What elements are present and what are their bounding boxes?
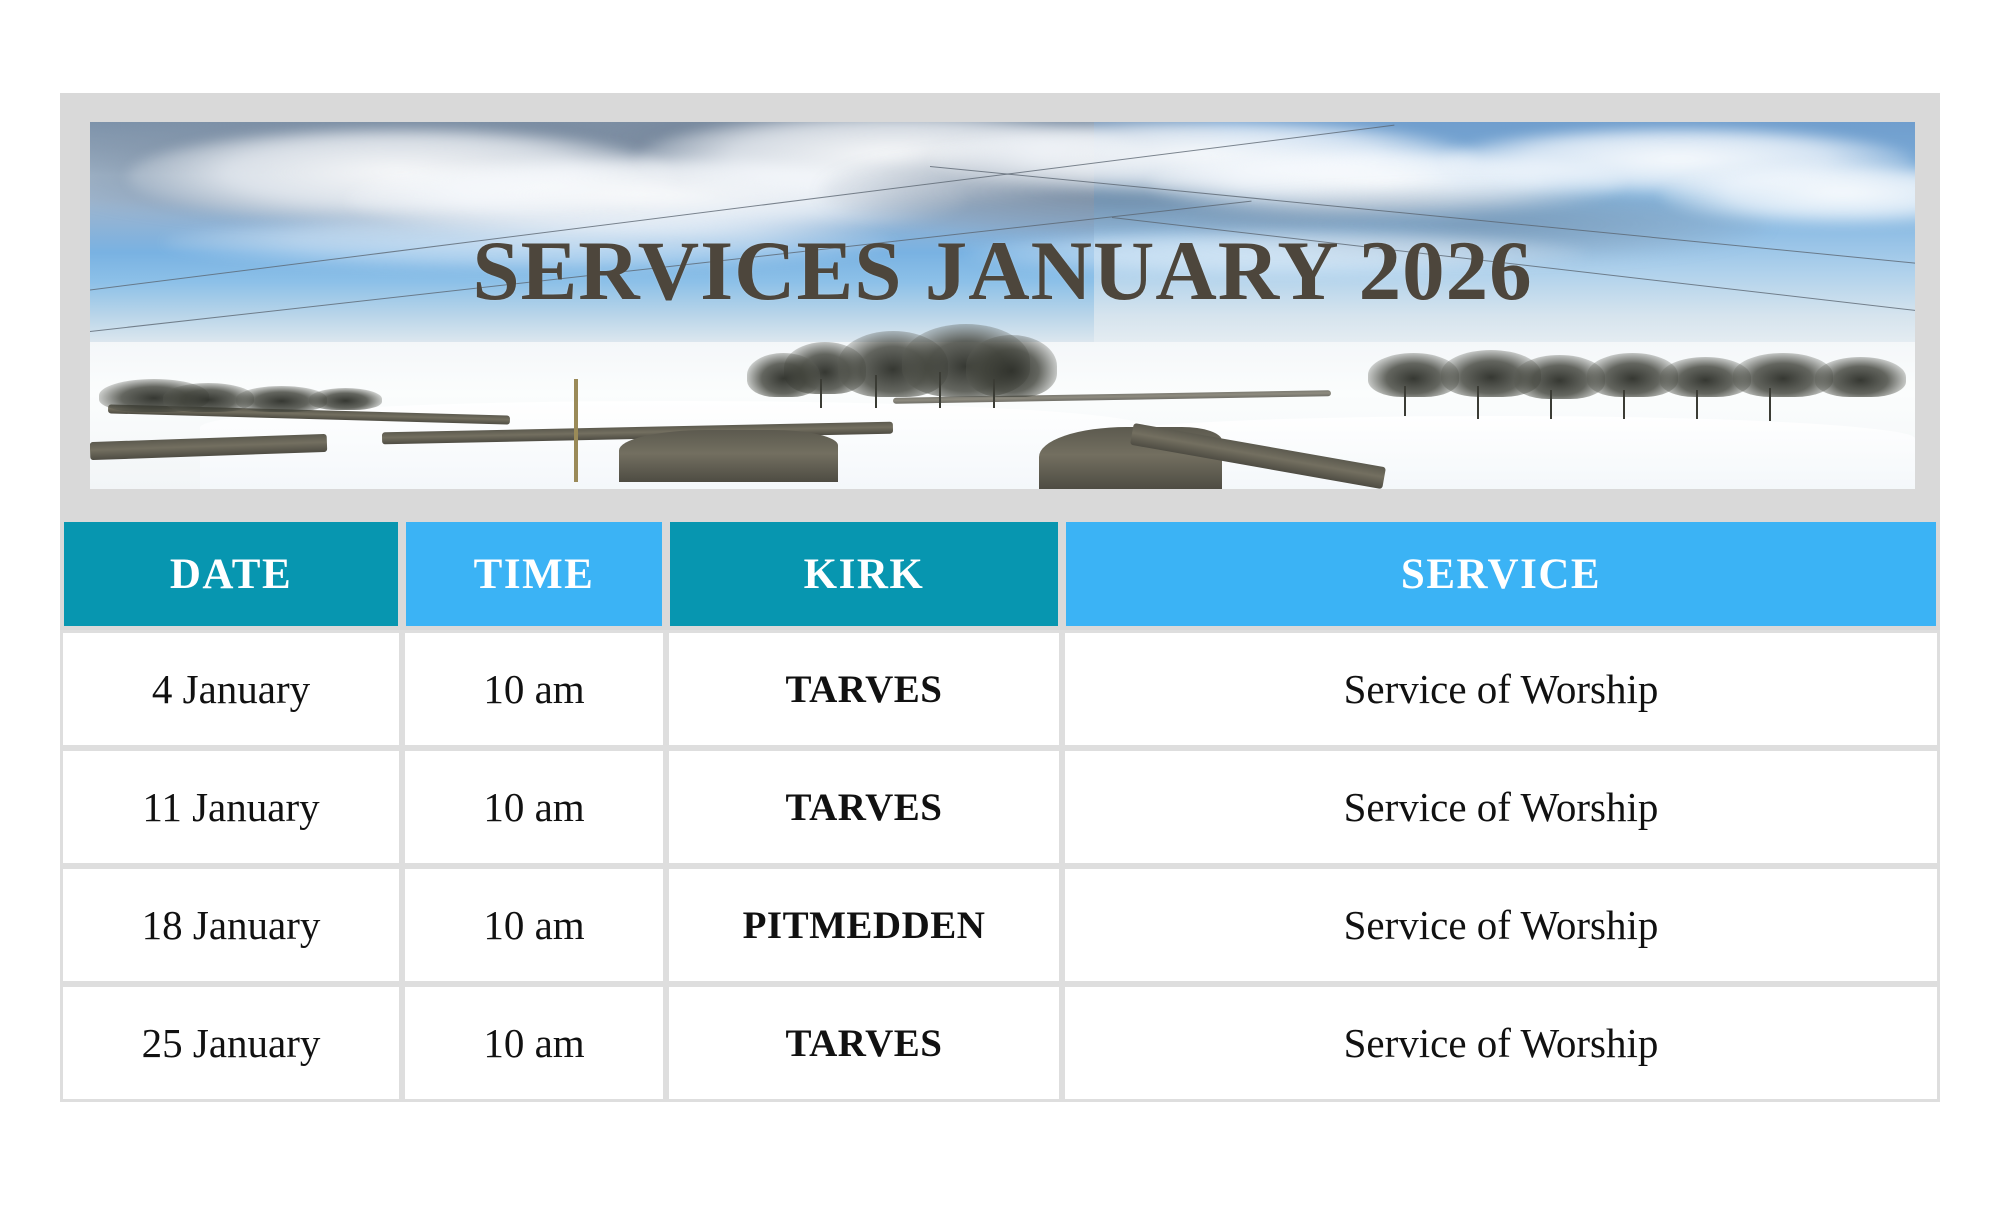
tree-trunk [820,379,822,408]
column-header-date[interactable]: DATE [60,518,402,630]
tree-trunk [993,379,995,408]
services-table: DATE TIME KIRK SERVICE 4 January 10 am T… [60,518,1940,1102]
cell-kirk: TARVES [666,984,1062,1102]
tree [747,353,820,397]
table-row: 25 January 10 am TARVES Service of Worsh… [60,984,1940,1102]
tree [1815,357,1906,397]
column-header-service[interactable]: SERVICE [1062,518,1940,630]
cell-service: Service of Worship [1062,866,1940,984]
tree-trunk [1477,386,1479,419]
tree-trunk [939,372,941,409]
tree-trunk [1623,390,1625,419]
page-title: SERVICES JANUARY 2026 [90,227,1915,316]
table-row: 18 January 10 am PITMEDDEN Service of Wo… [60,866,1940,984]
cell-date: 11 January [60,748,402,866]
cell-kirk: PITMEDDEN [666,866,1062,984]
column-header-time[interactable]: TIME [402,518,666,630]
cell-kirk: TARVES [666,748,1062,866]
cell-service: Service of Worship [1062,748,1940,866]
table-row: 11 January 10 am TARVES Service of Worsh… [60,748,1940,866]
cell-time: 10 am [402,866,666,984]
cell-service: Service of Worship [1062,630,1940,748]
cell-date: 4 January [60,630,402,748]
cell-date: 25 January [60,984,402,1102]
cell-date: 18 January [60,866,402,984]
table-row: 4 January 10 am TARVES Service of Worshi… [60,630,1940,748]
tree-trunk [1550,390,1552,419]
cell-kirk: TARVES [666,630,1062,748]
cell-service: Service of Worship [1062,984,1940,1102]
tree-trunk [1696,390,1698,419]
tree-trunk [875,375,877,408]
services-poster: SERVICES JANUARY 2026 DATE TIME KIRK SER… [60,93,1940,1135]
cell-time: 10 am [402,630,666,748]
banner-panel: SERVICES JANUARY 2026 [60,93,1940,518]
stone-wall [619,430,838,481]
tree [309,388,382,410]
cell-time: 10 am [402,984,666,1102]
tree-trunk [1769,388,1771,421]
cell-time: 10 am [402,748,666,866]
telegraph-pole [574,379,578,482]
tree [966,335,1057,397]
banner-photo: SERVICES JANUARY 2026 [90,122,1915,489]
table-header-row: DATE TIME KIRK SERVICE [60,518,1940,630]
tree-trunk [1404,386,1406,415]
column-header-kirk[interactable]: KIRK [666,518,1062,630]
